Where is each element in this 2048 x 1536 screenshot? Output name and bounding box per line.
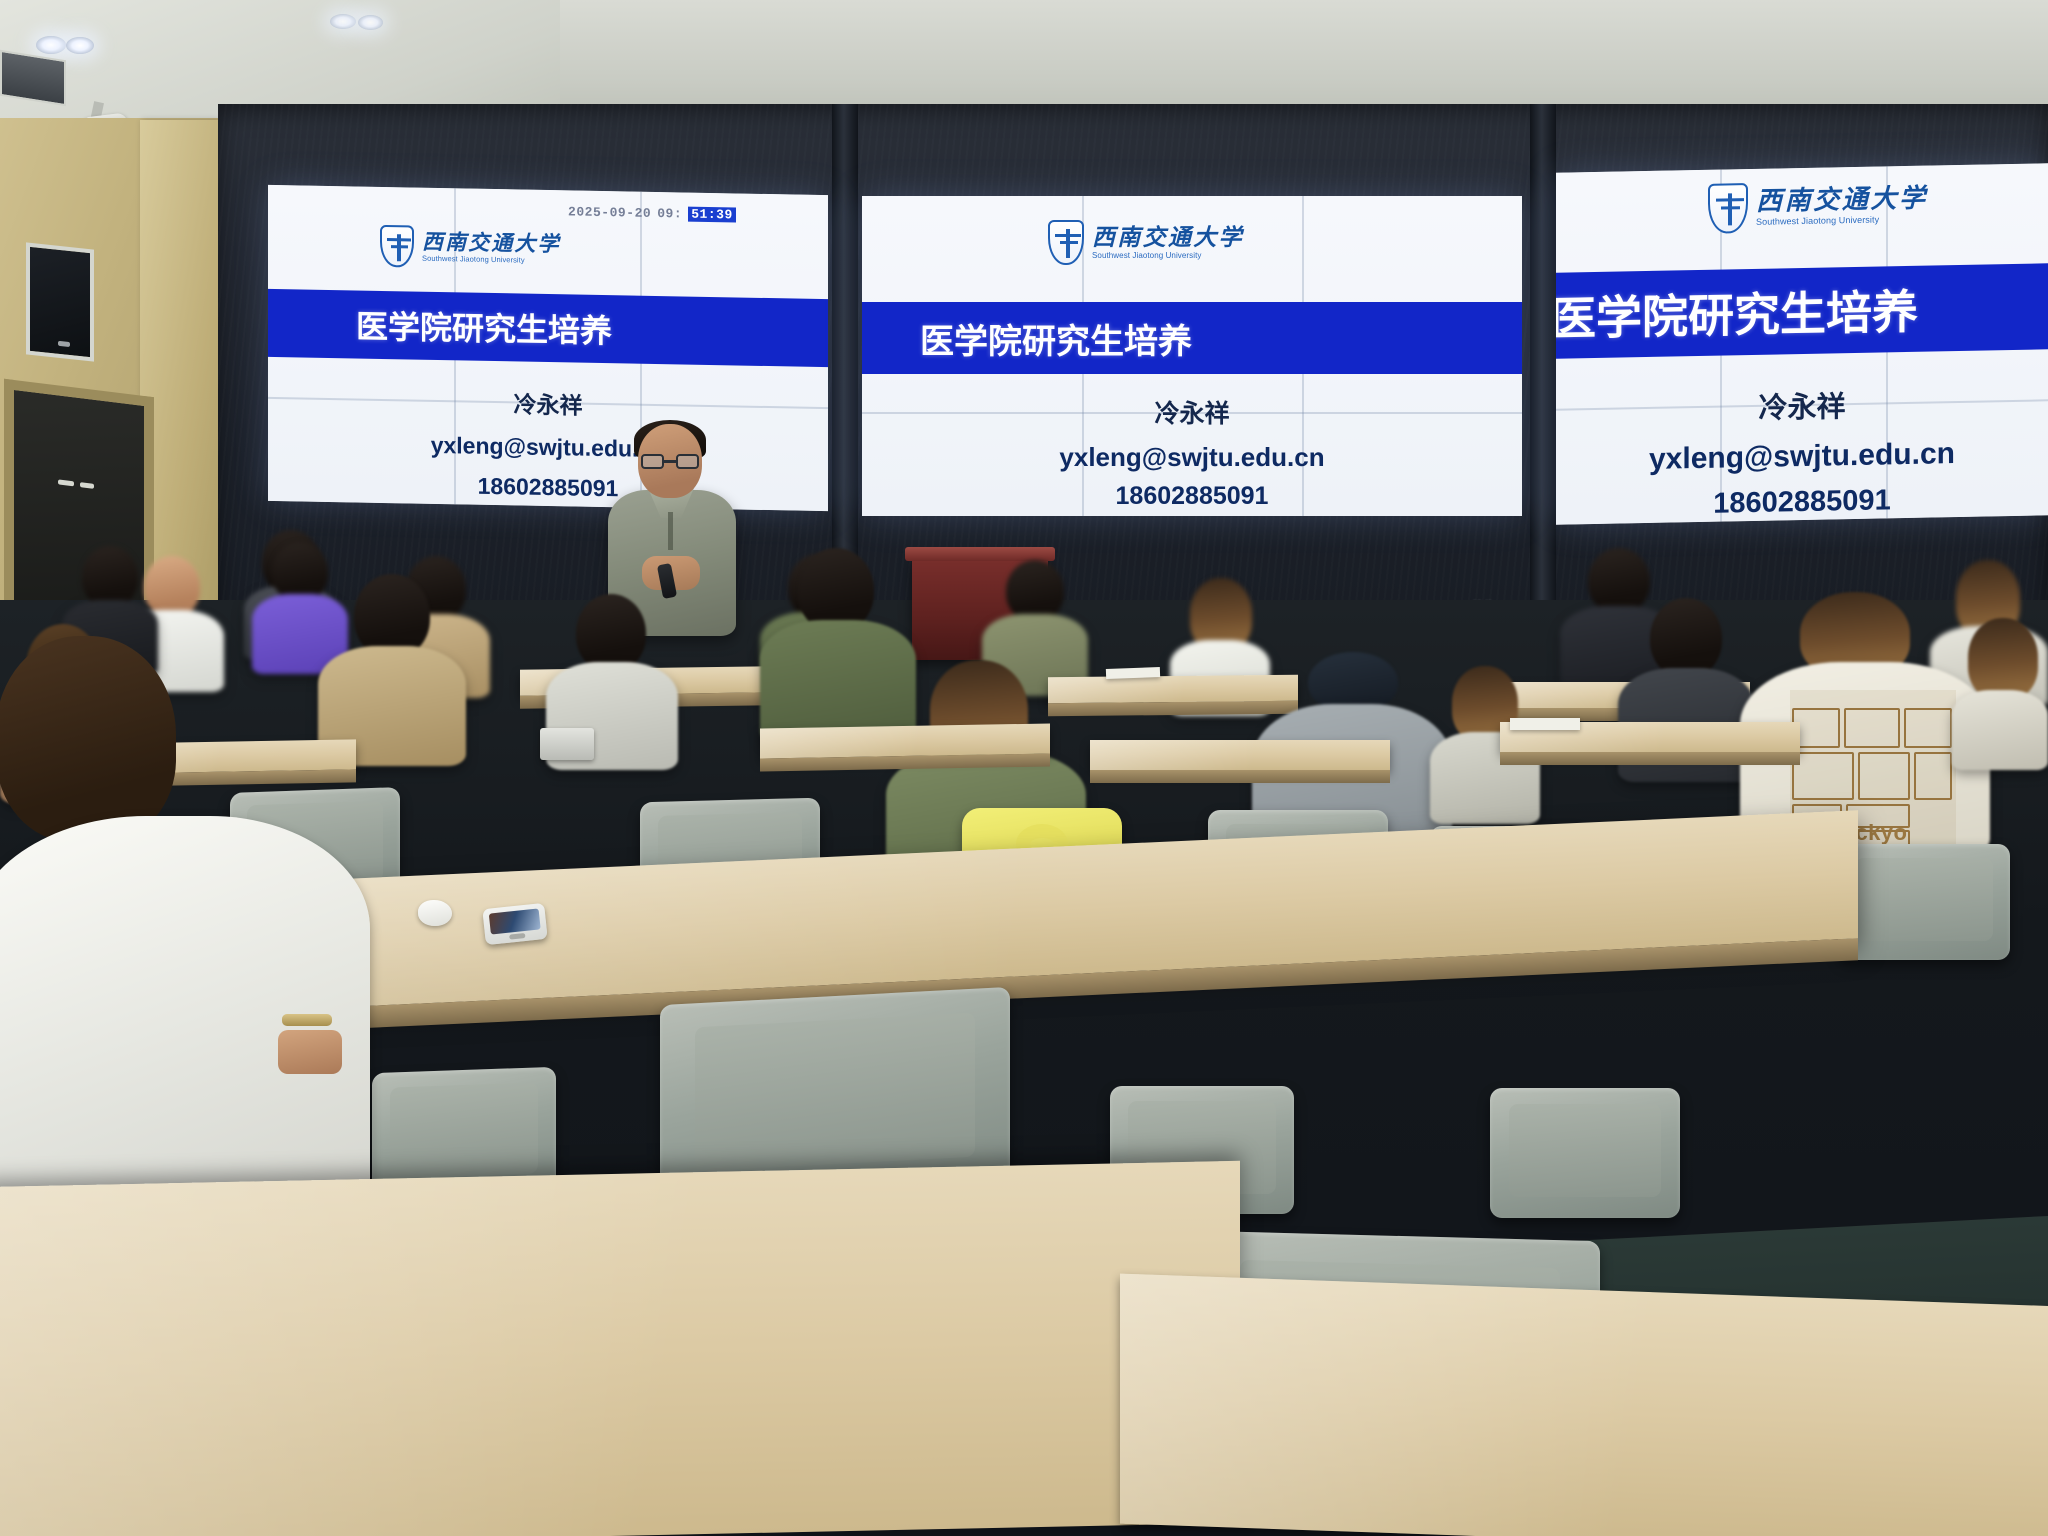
university-logo: 西南交通大学 Southwest Jiaotong University — [1048, 220, 1244, 265]
paper-sheet — [1510, 718, 1580, 730]
slide-right: 西南交通大学 Southwest Jiaotong University 医学院… — [1556, 163, 2048, 524]
door-handle[interactable] — [58, 479, 74, 486]
ceiling-light-icon — [358, 15, 383, 30]
video-wall-panel-left[interactable]: 西南交通大学 Southwest Jiaotong University 医学院… — [268, 185, 828, 511]
osd-date: 2025-09-20 — [568, 204, 651, 221]
lecture-hall-scene: 西南交通大学 Southwest Jiaotong University 医学院… — [0, 0, 2048, 1536]
slide-phone: 18602885091 — [268, 469, 828, 506]
phone-home-button[interactable] — [509, 933, 525, 940]
phone-screen[interactable] — [489, 908, 541, 934]
slide-presenter-name: 冷永祥 — [862, 394, 1522, 430]
osd-minsec: 51:39 — [688, 207, 736, 223]
slide-title: 医学院研究生培养 — [356, 301, 612, 352]
university-logo: 西南交通大学 Southwest Jiaotong University — [1708, 180, 1928, 234]
paper-sheet — [1106, 667, 1160, 679]
university-name-cn: 西南交通大学 — [1092, 225, 1244, 250]
chair[interactable] — [1838, 844, 2010, 960]
ceiling-light-icon — [330, 14, 356, 29]
university-name-en: Southwest Jiaotong University — [1092, 250, 1244, 261]
video-wall-panel-middle[interactable]: 西南交通大学 Southwest Jiaotong University 医学院… — [862, 196, 1522, 516]
slide-email: yxleng@swjtu.edu.cn — [862, 442, 1522, 473]
slide-phone: 18602885091 — [862, 482, 1522, 511]
ceiling-light-icon — [36, 36, 66, 54]
title-band-middle: 医学院研究生培养 — [862, 302, 1522, 374]
tissue — [418, 900, 452, 926]
osd-hour: 09: — [657, 206, 682, 221]
foreground-person-hand — [278, 1030, 342, 1074]
desk-row-mid — [1090, 740, 1390, 770]
slide-email: yxleng@swjtu.edu.cn — [1556, 435, 2048, 478]
university-name-cn: 西南交通大学 — [1756, 185, 1928, 216]
desk-row-mid — [760, 723, 1050, 758]
slide-presenter-name: 冷永祥 — [1556, 379, 2048, 430]
slide-title: 医学院研究生培养 — [920, 314, 1192, 363]
desk-row-foreground-right — [1120, 1274, 2048, 1536]
title-band-right: 医学院研究生培养 — [1556, 263, 2048, 358]
desk-row-foreground — [0, 1161, 1240, 1536]
glasses-icon — [641, 454, 699, 469]
chair[interactable] — [1490, 1088, 1680, 1218]
shield-icon — [1708, 183, 1748, 234]
door-handle-secondary[interactable] — [80, 482, 94, 489]
slide-presenter-name: 冷永祥 — [268, 381, 828, 425]
smartphone[interactable] — [482, 903, 547, 945]
slide-email: yxleng@swjtu.edu.cn — [268, 429, 828, 466]
video-wall-panel-right[interactable]: 西南交通大学 Southwest Jiaotong University 医学院… — [1556, 163, 2048, 524]
laptop[interactable] — [540, 728, 594, 760]
shield-icon — [1048, 220, 1084, 265]
university-name-en: Southwest Jiaotong University — [1756, 213, 1928, 228]
slide-middle: 西南交通大学 Southwest Jiaotong University 医学院… — [862, 196, 1522, 516]
wall-window-panel — [26, 242, 94, 361]
slide-left: 西南交通大学 Southwest Jiaotong University 医学院… — [268, 185, 828, 511]
osd-timestamp: 2025-09-20 09: 51:39 — [568, 204, 736, 222]
ceiling-light-icon — [66, 37, 94, 54]
audience-person — [1952, 618, 2048, 758]
university-logo: 西南交通大学 Southwest Jiaotong University — [380, 225, 561, 270]
university-name-cn: 西南交通大学 — [422, 230, 561, 256]
shield-icon — [380, 225, 414, 268]
title-band-left: 医学院研究生培养 — [268, 289, 828, 367]
slide-title: 医学院研究生培养 — [1556, 276, 1918, 349]
window-glint — [58, 341, 70, 347]
wristwatch — [282, 1014, 332, 1026]
